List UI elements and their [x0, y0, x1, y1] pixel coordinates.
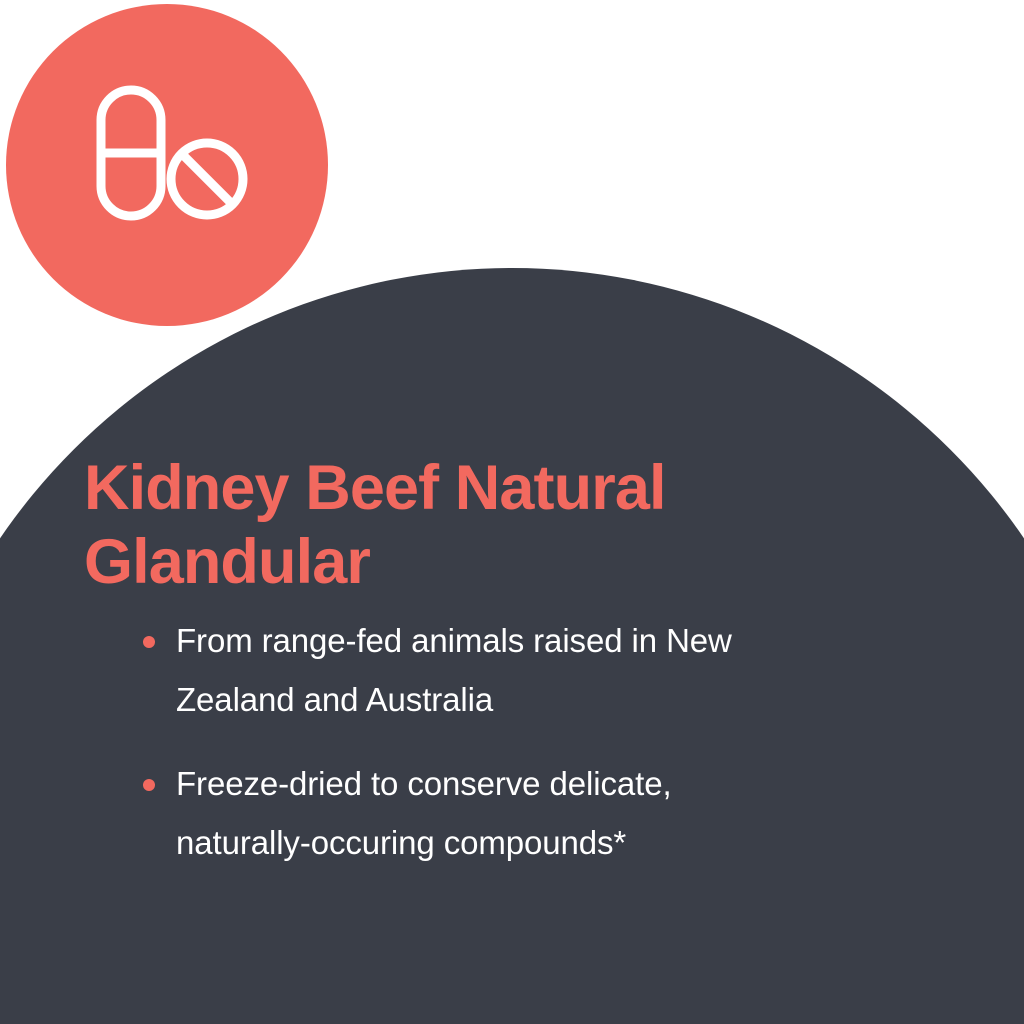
- bullet-dot-icon: [143, 779, 155, 791]
- page-title: Kidney Beef Natural Glandular: [84, 452, 784, 599]
- list-item-label: Freeze-dried to conserve delicate, natur…: [176, 765, 672, 861]
- list-item: Freeze-dried to conserve delicate, natur…: [132, 755, 806, 872]
- list-item: From range-fed animals raised in New Zea…: [132, 612, 806, 729]
- product-benefit-card: Kidney Beef Natural Glandular From range…: [0, 0, 1024, 1024]
- content-block: Kidney Beef Natural Glandular From range…: [0, 0, 1024, 1024]
- bullet-dot-icon: [143, 636, 155, 648]
- list-item-label: From range-fed animals raised in New Zea…: [176, 622, 732, 718]
- benefit-list: From range-fed animals raised in New Zea…: [132, 612, 892, 873]
